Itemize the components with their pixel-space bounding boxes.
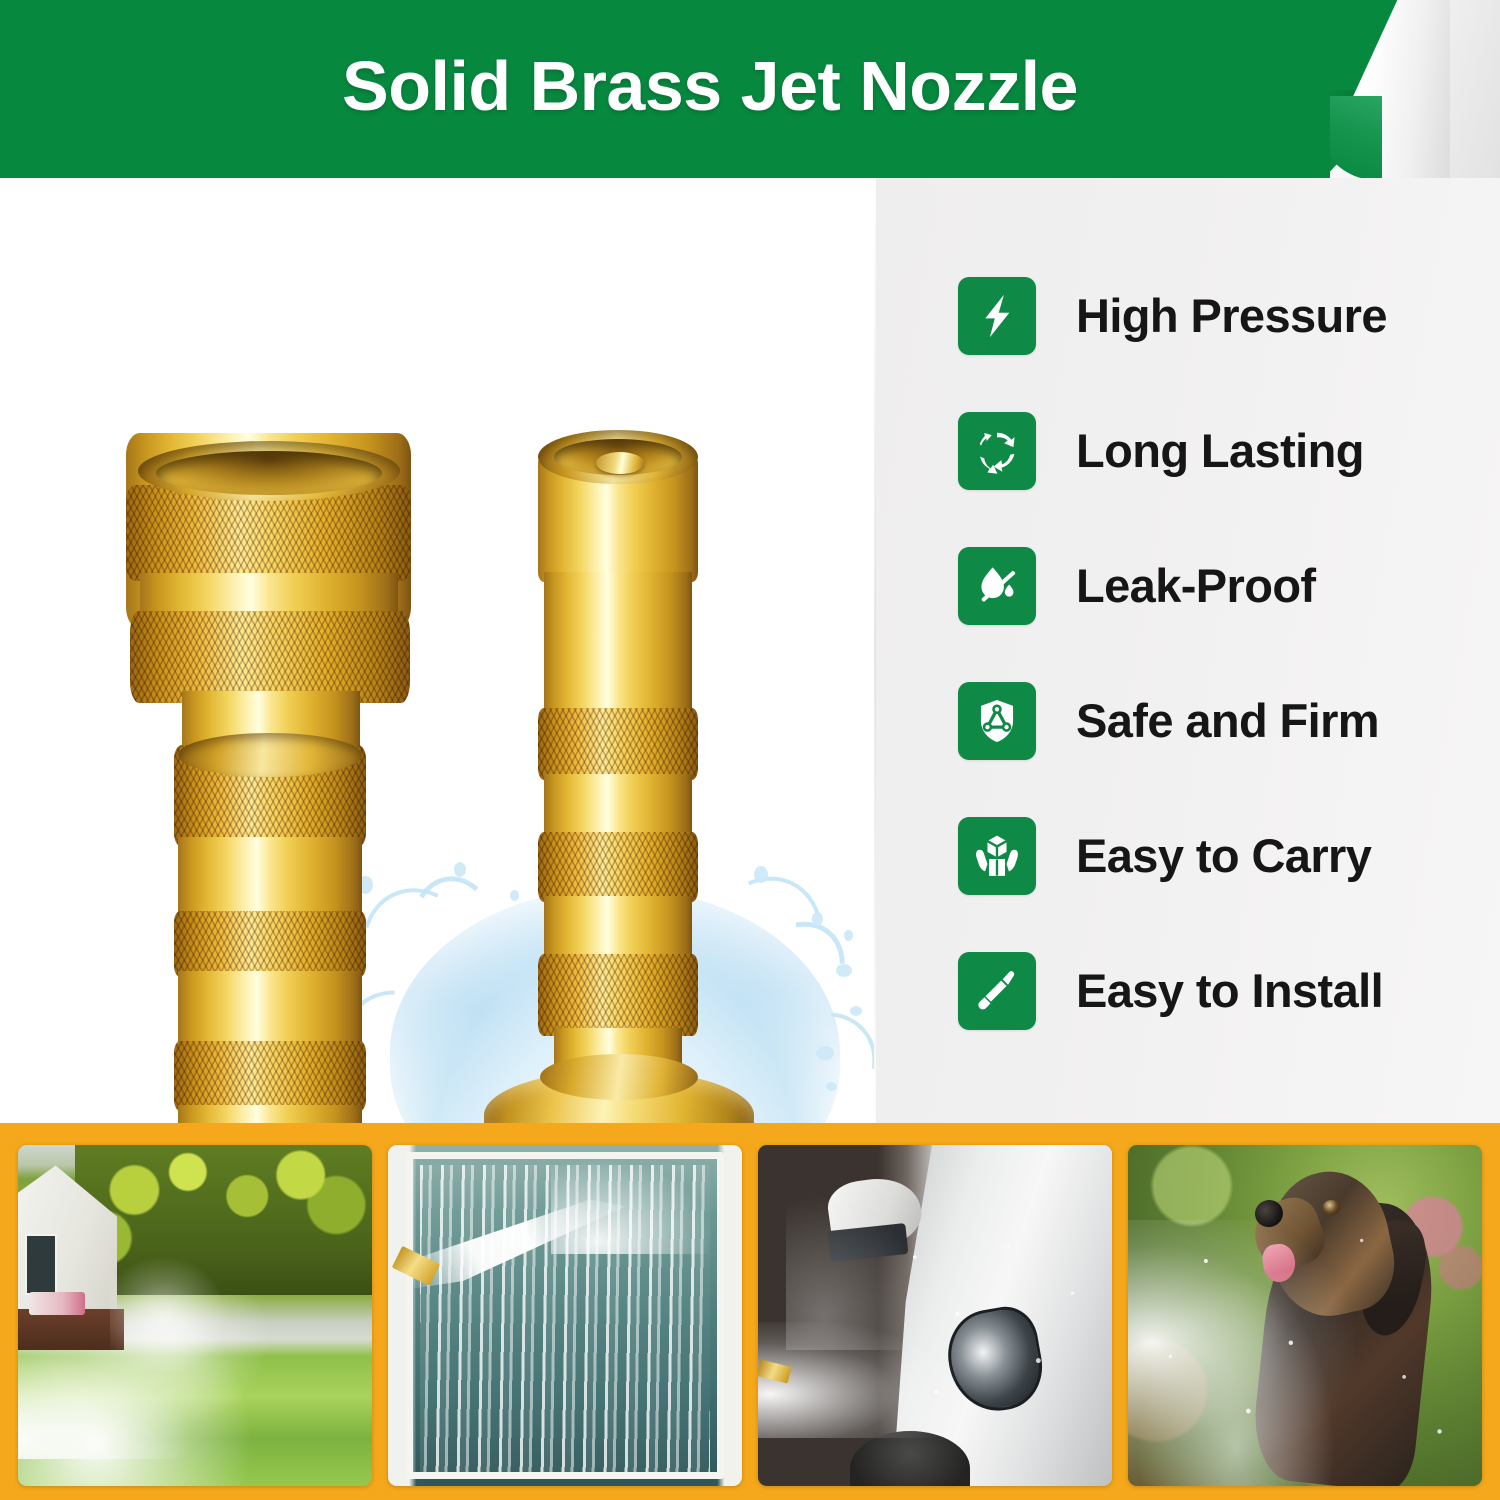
- no-water-drop-icon: [958, 547, 1036, 625]
- feature-list: High Pressure Long Lasting: [958, 248, 1478, 1058]
- water-droplet: [454, 862, 466, 877]
- product-infographic: Solid Brass Jet Nozzle: [0, 0, 1500, 1500]
- screwdriver-icon: [958, 952, 1036, 1030]
- brass-nozzle-right: [510, 430, 810, 1230]
- knurled-grip-ring: [538, 708, 698, 780]
- water-spray: [110, 1254, 230, 1370]
- feature-row-safe-and-firm: Safe and Firm: [958, 653, 1478, 788]
- knurled-grip-ring: [174, 1041, 366, 1111]
- recycle-arrows-icon: [958, 412, 1036, 490]
- lightning-bolt-icon: [958, 277, 1036, 355]
- feature-label: Long Lasting: [1076, 423, 1364, 478]
- feature-label: High Pressure: [1076, 288, 1387, 343]
- lawn-sprinkler-photo: [18, 1145, 372, 1486]
- water-droplet: [844, 930, 853, 941]
- knurled-grip-ring: [174, 911, 366, 977]
- nozzle-barrel: [544, 774, 692, 840]
- nozzle-neck: [544, 572, 692, 718]
- collar-bore: [156, 451, 382, 495]
- nozzle-barrel: [544, 896, 692, 962]
- feature-row-easy-to-install: Easy to Install: [958, 923, 1478, 1058]
- header-banner: Solid Brass Jet Nozzle: [0, 0, 1500, 178]
- barrel-lip: [178, 733, 362, 777]
- panel-divider: [874, 178, 876, 1123]
- water-droplet: [826, 1082, 837, 1091]
- product-photo-area: [0, 178, 875, 1123]
- feature-row-high-pressure: High Pressure: [958, 248, 1478, 383]
- usage-photo-strip: [0, 1123, 1500, 1500]
- shield-check-icon: [958, 682, 1036, 760]
- hands-holding-box-icon: [958, 817, 1036, 895]
- water-droplet: [850, 1006, 862, 1016]
- water-spray-fan: [18, 1356, 188, 1458]
- jet-tip: [596, 452, 644, 474]
- dog-bathing-photo: [1128, 1145, 1482, 1486]
- knurled-grip-ring: [130, 611, 410, 703]
- window-washing-photo: [388, 1145, 742, 1486]
- knurled-grip-ring: [538, 832, 698, 902]
- curl-green-tip: [1330, 96, 1382, 178]
- page-title: Solid Brass Jet Nozzle: [0, 0, 1420, 178]
- feature-label: Easy to Carry: [1076, 828, 1371, 883]
- house-window: [25, 1234, 57, 1295]
- flange-step-top: [540, 1054, 698, 1100]
- water-mist-droplets: [1128, 1145, 1482, 1486]
- car-washing-photo: [758, 1145, 1112, 1486]
- water-jet-burst: [551, 1152, 721, 1254]
- feature-row-easy-to-carry: Easy to Carry: [958, 788, 1478, 923]
- feature-row-leak-proof: Leak-Proof: [958, 518, 1478, 653]
- feature-label: Safe and Firm: [1076, 693, 1379, 748]
- patio-cushion: [29, 1292, 86, 1316]
- feature-row-long-lasting: Long Lasting: [958, 383, 1478, 518]
- knurled-grip-ring: [538, 954, 698, 1036]
- water-droplet: [816, 1046, 834, 1060]
- feature-label: Easy to Install: [1076, 963, 1383, 1018]
- page-curl-corner: [1330, 0, 1500, 178]
- feature-label: Leak-Proof: [1076, 558, 1316, 613]
- water-droplet: [812, 912, 823, 926]
- water-droplet: [836, 964, 852, 977]
